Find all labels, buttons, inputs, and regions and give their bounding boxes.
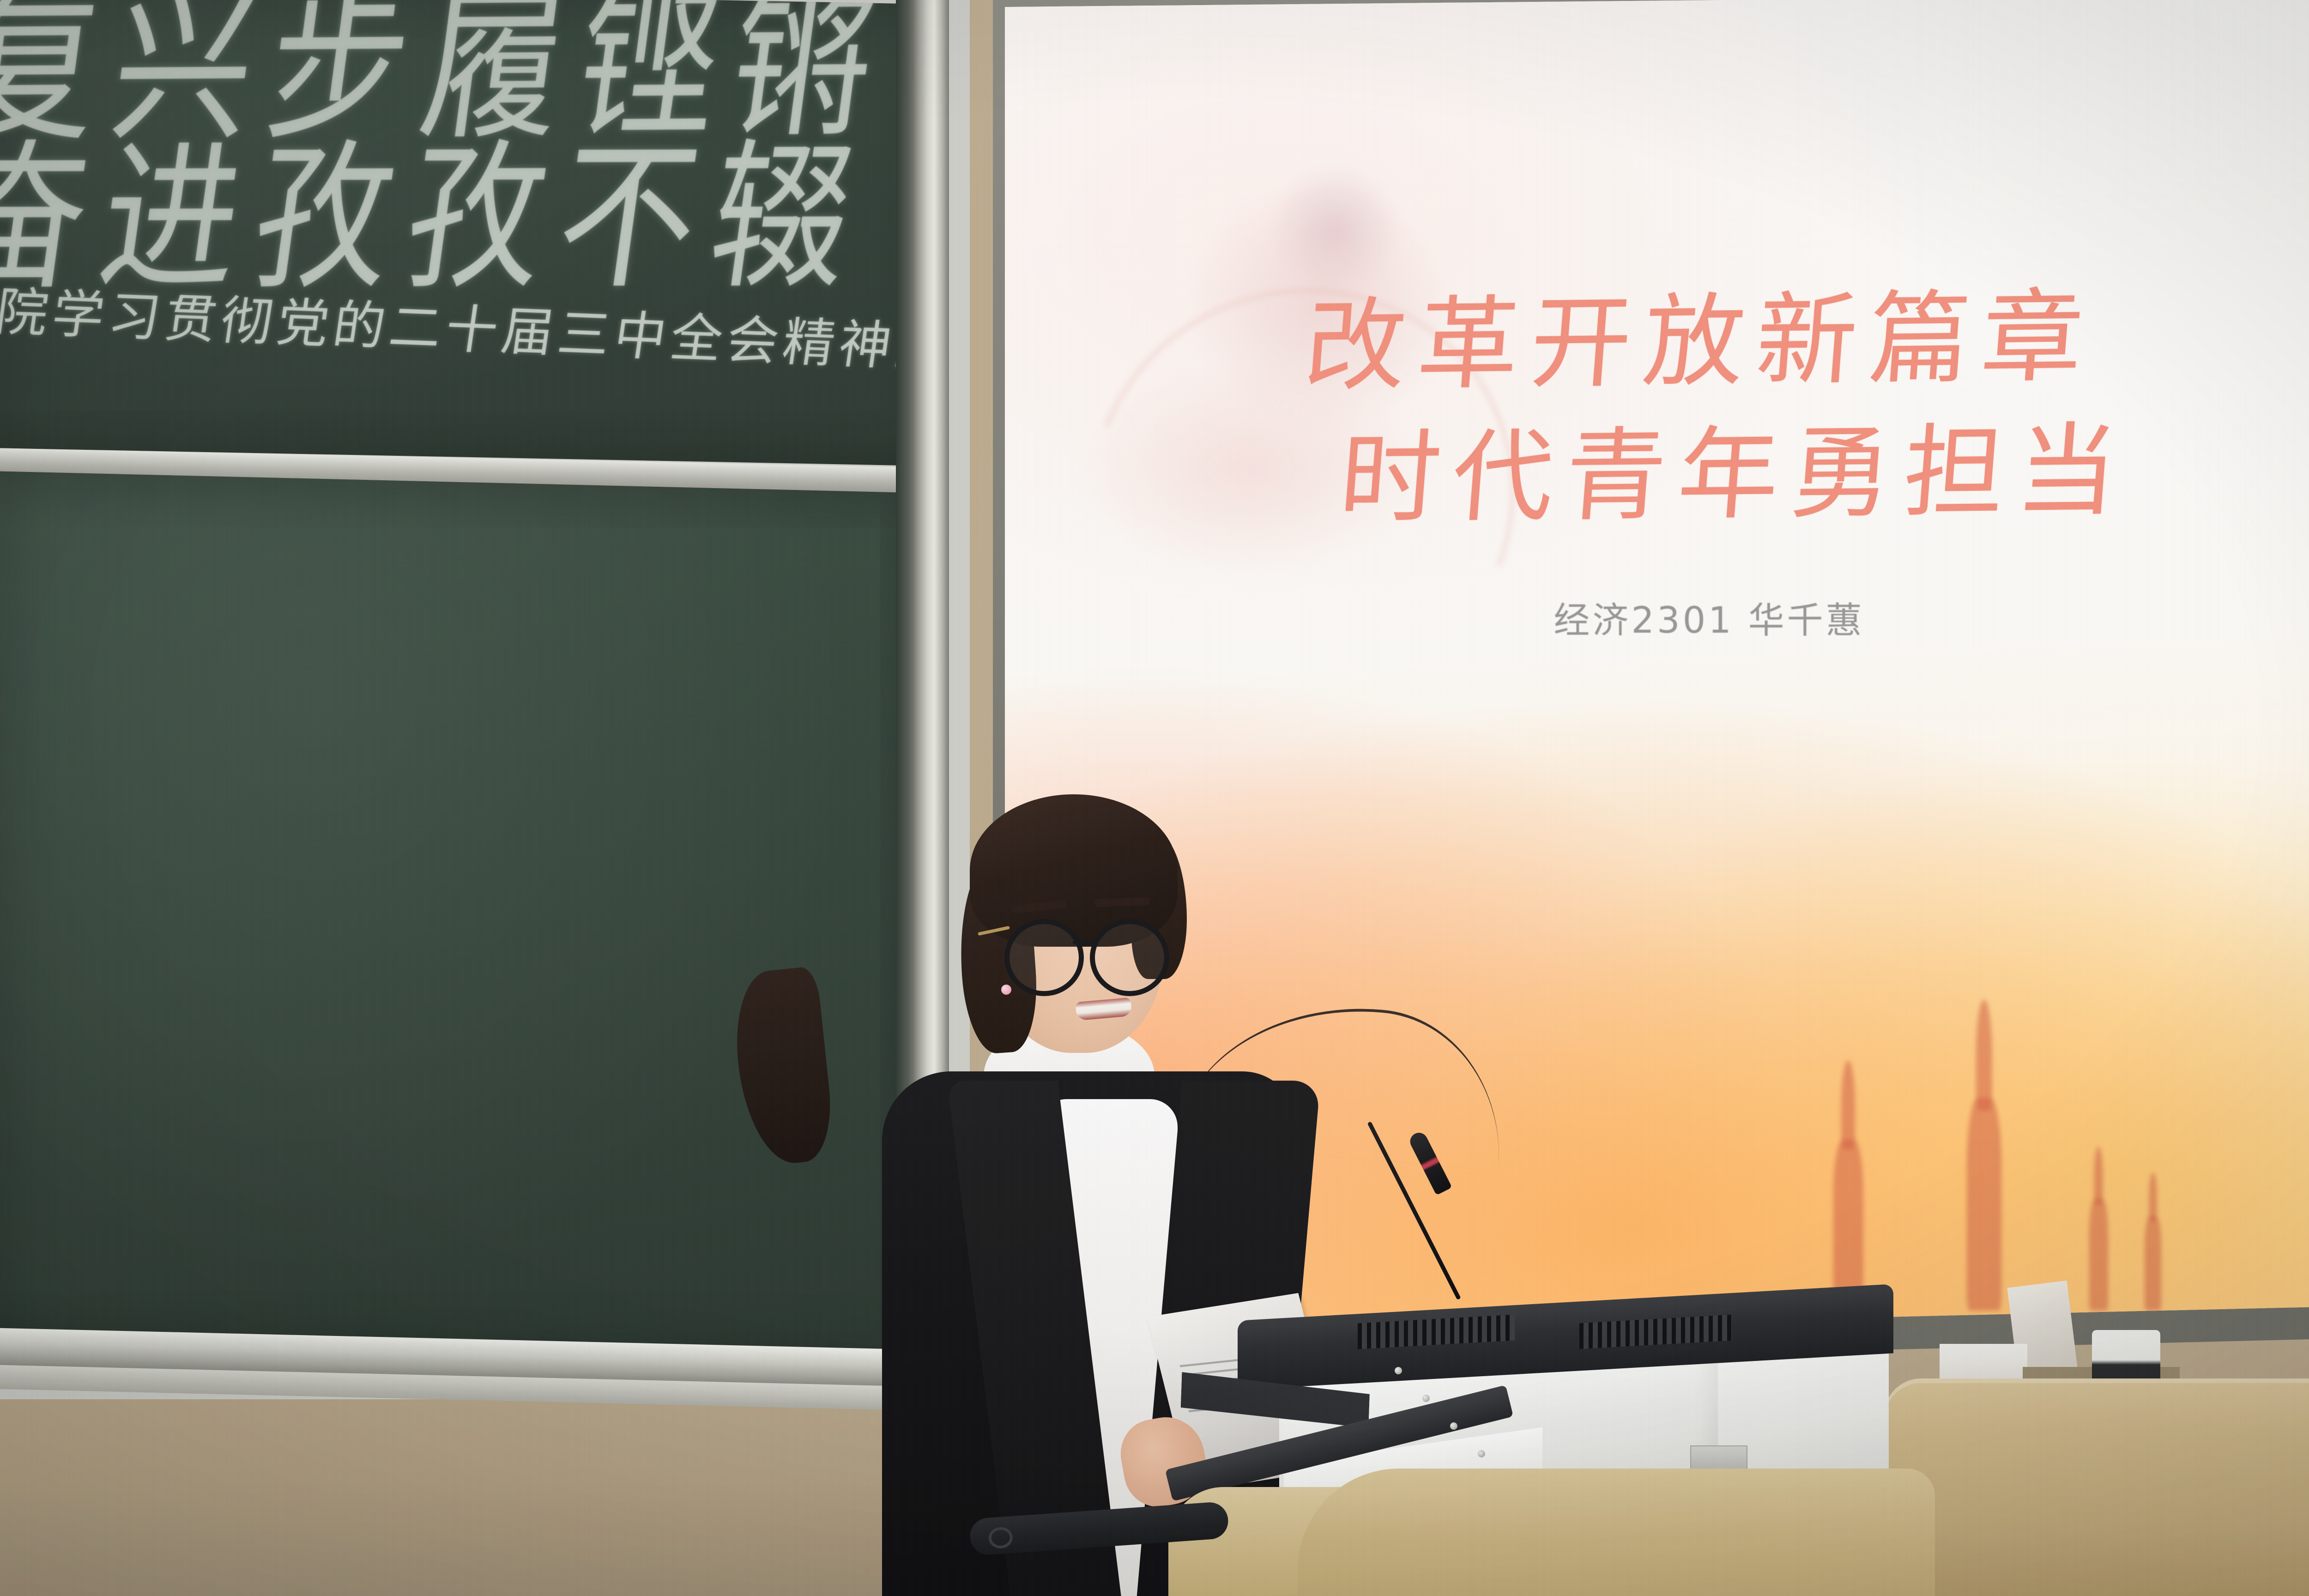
lectern-podium [1099, 1228, 1930, 1596]
head [961, 804, 1173, 1071]
podium-screw [1422, 1395, 1430, 1402]
slide-title-line-2: 时代青年勇担当 [1069, 402, 2309, 549]
podium-screw [1395, 1367, 1402, 1374]
classroom-photo-scene: 复兴步履铿锵 奋进孜孜不辍 院学习贯彻党的二十届三中全会精神主题演讲比赛 改革开… [0, 0, 2309, 1596]
earring [1001, 985, 1011, 995]
eyeglass-lens-right [1090, 919, 1169, 996]
rocket-icon [1967, 1098, 2001, 1311]
podium-screw [1450, 1422, 1457, 1430]
rocket-icon [2145, 1216, 2161, 1311]
slide-subtitle: 经济2301 华千蕙 [1023, 592, 2309, 643]
slide-title-line-1: 改革开放新篇章 [1005, 267, 2309, 417]
rocket-icon [2089, 1198, 2108, 1311]
chalk-writing-layer: 复兴步履铿锵 奋进孜孜不辍 院学习贯彻党的二十届三中全会精神主题演讲比赛 [0, 0, 942, 471]
podium-screw [1478, 1450, 1485, 1457]
eyeglass-lens-left [1004, 919, 1084, 996]
slide-title-block: 改革开放新篇章 时代青年勇担当 [1005, 276, 2309, 542]
eyeglass-bridge [1073, 940, 1093, 944]
teacher-desk [1884, 1378, 2309, 1596]
eyeglasses-icon [1004, 919, 1161, 988]
podium-wood-front [1298, 1469, 1935, 1596]
